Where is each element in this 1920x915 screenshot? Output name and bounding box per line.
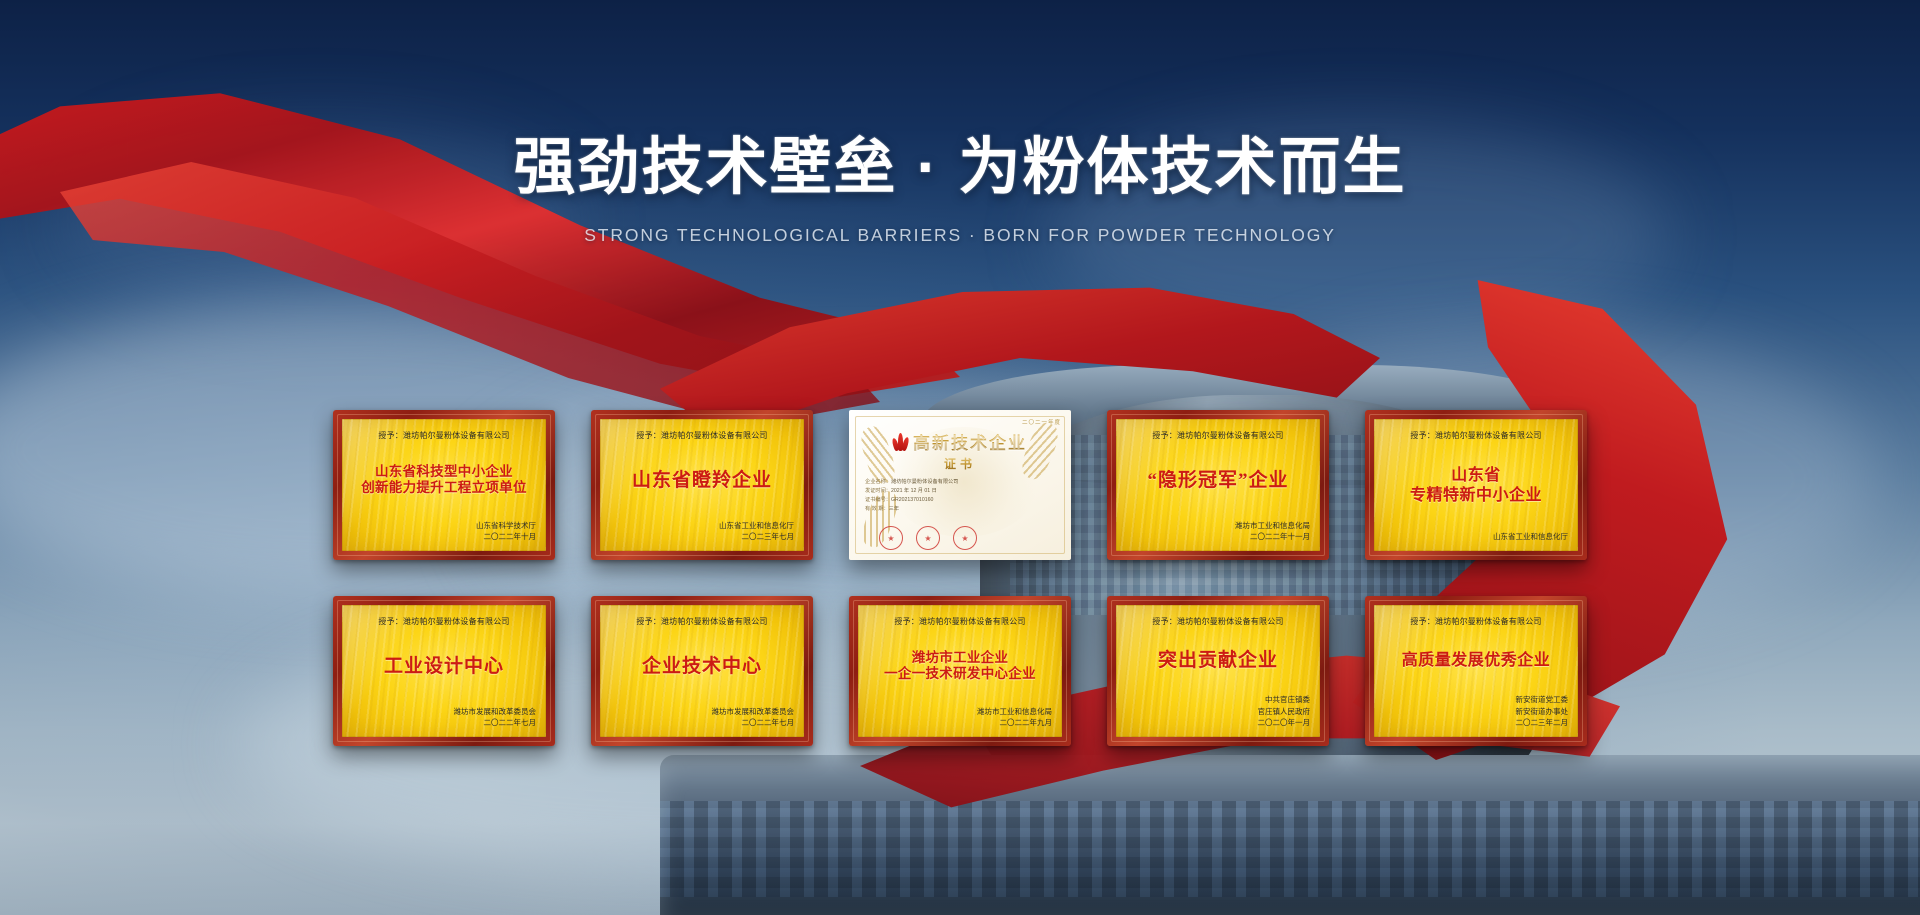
certificate-subtitle: 证书 [859,455,1061,472]
award-date: 二〇二〇年一月 [1258,717,1311,729]
award-issuer: 山东省工业和信息化厅 [719,520,794,532]
award-issuer: 潍坊市工业和信息化局 [977,706,1052,718]
award-footer: 山东省工业和信息化厅 [1493,531,1568,543]
award-footer: 新安街道党工委新安街道办事处二〇二三年二月 [1516,694,1569,729]
award-title: 突出贡献企业 [1158,627,1278,694]
certificate-seals [859,526,1061,552]
plaque-face: 授予：潍坊帕尔曼粉体设备有限公司企业技术中心潍坊市发展和改革委员会二〇二二年七月 [600,605,804,737]
certificate-year: 二〇二一年度 [859,418,1061,426]
award-title-line: 山东省瞪羚企业 [632,469,772,493]
award-title-line: 工业设计中心 [384,655,504,679]
certificate-field: 有 效 期：三年 [865,505,1061,514]
award-title-line: 高质量发展优秀企业 [1402,651,1551,671]
award-issuer: 中共官庄镇委 [1258,694,1311,706]
official-seal-icon [953,526,977,550]
award-date: 二〇二二年七月 [454,717,537,729]
award-plaque[interactable]: 授予：潍坊帕尔曼粉体设备有限公司山东省科技型中小企业创新能力提升工程立项单位山东… [333,410,555,560]
award-plaque[interactable]: 授予：潍坊帕尔曼粉体设备有限公司山东省专精特新中小企业山东省工业和信息化厅 [1365,410,1587,560]
award-plaque[interactable]: 授予：潍坊帕尔曼粉体设备有限公司企业技术中心潍坊市发展和改革委员会二〇二二年七月 [591,596,813,746]
award-footer: 潍坊市工业和信息化局二〇二二年十一月 [1235,520,1310,543]
award-title-line: 一企一技术研发中心企业 [884,666,1036,683]
award-grant-label: 授予：潍坊帕尔曼粉体设备有限公司 [1152,430,1283,441]
page-title: 强劲技术壁垒 · 为粉体技术而生 [0,132,1920,203]
official-seal-icon [879,526,903,550]
award-grant-label: 授予：潍坊帕尔曼粉体设备有限公司 [636,616,767,627]
award-issuer: 山东省工业和信息化厅 [1493,531,1568,543]
award-title: 高质量发展优秀企业 [1402,627,1551,694]
award-footer: 山东省科学技术厅二〇二二年十月 [476,520,536,543]
certificate-field: 证书编号：GR202137010160 [865,496,1061,505]
award-plaque[interactable]: 授予：潍坊帕尔曼粉体设备有限公司山东省瞪羚企业山东省工业和信息化厅二〇二三年七月 [591,410,813,560]
award-footer: 潍坊市发展和改革委员会二〇二二年七月 [454,706,537,729]
certificate-fields: 企业名称：潍坊帕尔曼粉体设备有限公司发证时间：2021 年 12 月 01 日证… [859,478,1061,514]
plaque-face: 授予：潍坊帕尔曼粉体设备有限公司山东省科技型中小企业创新能力提升工程立项单位山东… [342,419,546,551]
award-date: 二〇二三年七月 [719,531,794,543]
award-footer: 潍坊市工业和信息化局二〇二二年九月 [977,706,1052,729]
award-title: 工业设计中心 [384,627,504,706]
award-issuer: 新安街道党工委 [1516,694,1569,706]
awards-row-1: 授予：潍坊帕尔曼粉体设备有限公司山东省科技型中小企业创新能力提升工程立项单位山东… [0,410,1920,560]
award-footer: 中共官庄镇委官庄镇人民政府二〇二〇年一月 [1258,694,1311,729]
award-footer: 潍坊市发展和改革委员会二〇二二年七月 [712,706,795,729]
official-seal-icon [916,526,940,550]
flame-emblem-icon [893,433,908,451]
plaque-face: 授予：潍坊帕尔曼粉体设备有限公司工业设计中心潍坊市发展和改革委员会二〇二二年七月 [342,605,546,737]
award-grant-label: 授予：潍坊帕尔曼粉体设备有限公司 [378,616,509,627]
certificate-heading: 高新技术企业 [859,429,1061,454]
award-title-line: 突出贡献企业 [1158,649,1278,673]
award-title: 山东省专精特新中小企业 [1410,441,1542,531]
certificate-field: 发证时间：2021 年 12 月 01 日 [865,487,1061,496]
award-title-line: 企业技术中心 [642,655,762,679]
award-issuer: 潍坊市发展和改革委员会 [454,706,537,718]
award-issuer-secondary: 官庄镇人民政府 [1258,706,1311,718]
award-footer: 山东省工业和信息化厅二〇二三年七月 [719,520,794,543]
award-title-line: “隐形冠军”企业 [1147,469,1288,493]
award-plaque[interactable]: 授予：潍坊帕尔曼粉体设备有限公司工业设计中心潍坊市发展和改革委员会二〇二二年七月 [333,596,555,746]
award-date: 二〇二二年七月 [712,717,795,729]
award-title: “隐形冠军”企业 [1147,441,1288,520]
award-title-line: 山东省科技型中小企业 [375,464,513,481]
plaque-face: 授予：潍坊帕尔曼粉体设备有限公司潍坊市工业企业一企一技术研发中心企业潍坊市工业和… [858,605,1062,737]
plaque-face: 授予：潍坊帕尔曼粉体设备有限公司山东省瞪羚企业山东省工业和信息化厅二〇二三年七月 [600,419,804,551]
award-grant-label: 授予：潍坊帕尔曼粉体设备有限公司 [1410,616,1541,627]
certificate-field: 企业名称：潍坊帕尔曼粉体设备有限公司 [865,478,1061,487]
award-certificate[interactable]: 二〇二一年度高新技术企业证书企业名称：潍坊帕尔曼粉体设备有限公司发证时间：202… [849,410,1071,560]
award-grant-label: 授予：潍坊帕尔曼粉体设备有限公司 [636,430,767,441]
award-date: 二〇二三年二月 [1516,717,1569,729]
award-issuer: 潍坊市工业和信息化局 [1235,520,1310,532]
award-plaque[interactable]: 授予：潍坊帕尔曼粉体设备有限公司突出贡献企业中共官庄镇委官庄镇人民政府二〇二〇年… [1107,596,1329,746]
award-title-line: 创新能力提升工程立项单位 [361,480,527,497]
award-issuer: 山东省科学技术厅 [476,520,536,532]
plaque-face: 授予：潍坊帕尔曼粉体设备有限公司高质量发展优秀企业新安街道党工委新安街道办事处二… [1374,605,1578,737]
page-subtitle: STRONG TECHNOLOGICAL BARRIERS · BORN FOR… [0,225,1920,246]
award-title-line: 潍坊市工业企业 [912,650,1009,667]
awards-gallery: 授予：潍坊帕尔曼粉体设备有限公司山东省科技型中小企业创新能力提升工程立项单位山东… [0,410,1920,746]
award-grant-label: 授予：潍坊帕尔曼粉体设备有限公司 [1152,616,1283,627]
award-date: 二〇二二年九月 [977,717,1052,729]
award-date: 二〇二二年十一月 [1235,531,1310,543]
award-grant-label: 授予：潍坊帕尔曼粉体设备有限公司 [894,616,1025,627]
award-plaque[interactable]: 授予：潍坊帕尔曼粉体设备有限公司潍坊市工业企业一企一技术研发中心企业潍坊市工业和… [849,596,1071,746]
award-grant-label: 授予：潍坊帕尔曼粉体设备有限公司 [1410,430,1541,441]
banner-title-block: 强劲技术壁垒 · 为粉体技术而生 STRONG TECHNOLOGICAL BA… [0,132,1920,246]
award-title: 山东省瞪羚企业 [632,441,772,520]
award-title: 山东省科技型中小企业创新能力提升工程立项单位 [361,441,527,520]
award-plaque[interactable]: 授予：潍坊帕尔曼粉体设备有限公司“隐形冠军”企业潍坊市工业和信息化局二〇二二年十… [1107,410,1329,560]
award-title-line: 山东省 [1451,466,1501,486]
certificate-title: 高新技术企业 [913,429,1027,454]
honors-banner: 强劲技术壁垒 · 为粉体技术而生 STRONG TECHNOLOGICAL BA… [0,0,1920,915]
awards-row-2: 授予：潍坊帕尔曼粉体设备有限公司工业设计中心潍坊市发展和改革委员会二〇二二年七月… [0,596,1920,746]
award-plaque[interactable]: 授予：潍坊帕尔曼粉体设备有限公司高质量发展优秀企业新安街道党工委新安街道办事处二… [1365,596,1587,746]
plaque-face: 授予：潍坊帕尔曼粉体设备有限公司“隐形冠军”企业潍坊市工业和信息化局二〇二二年十… [1116,419,1320,551]
award-grant-label: 授予：潍坊帕尔曼粉体设备有限公司 [378,430,509,441]
award-issuer-secondary: 新安街道办事处 [1516,706,1569,718]
award-title: 企业技术中心 [642,627,762,706]
award-date: 二〇二二年十月 [476,531,536,543]
plaque-face: 授予：潍坊帕尔曼粉体设备有限公司突出贡献企业中共官庄镇委官庄镇人民政府二〇二〇年… [1116,605,1320,737]
award-title: 潍坊市工业企业一企一技术研发中心企业 [884,627,1036,706]
award-title-line: 专精特新中小企业 [1410,486,1542,506]
award-issuer: 潍坊市发展和改革委员会 [712,706,795,718]
plaque-face: 授予：潍坊帕尔曼粉体设备有限公司山东省专精特新中小企业山东省工业和信息化厅 [1374,419,1578,551]
ding-base-pattern [660,801,1920,897]
